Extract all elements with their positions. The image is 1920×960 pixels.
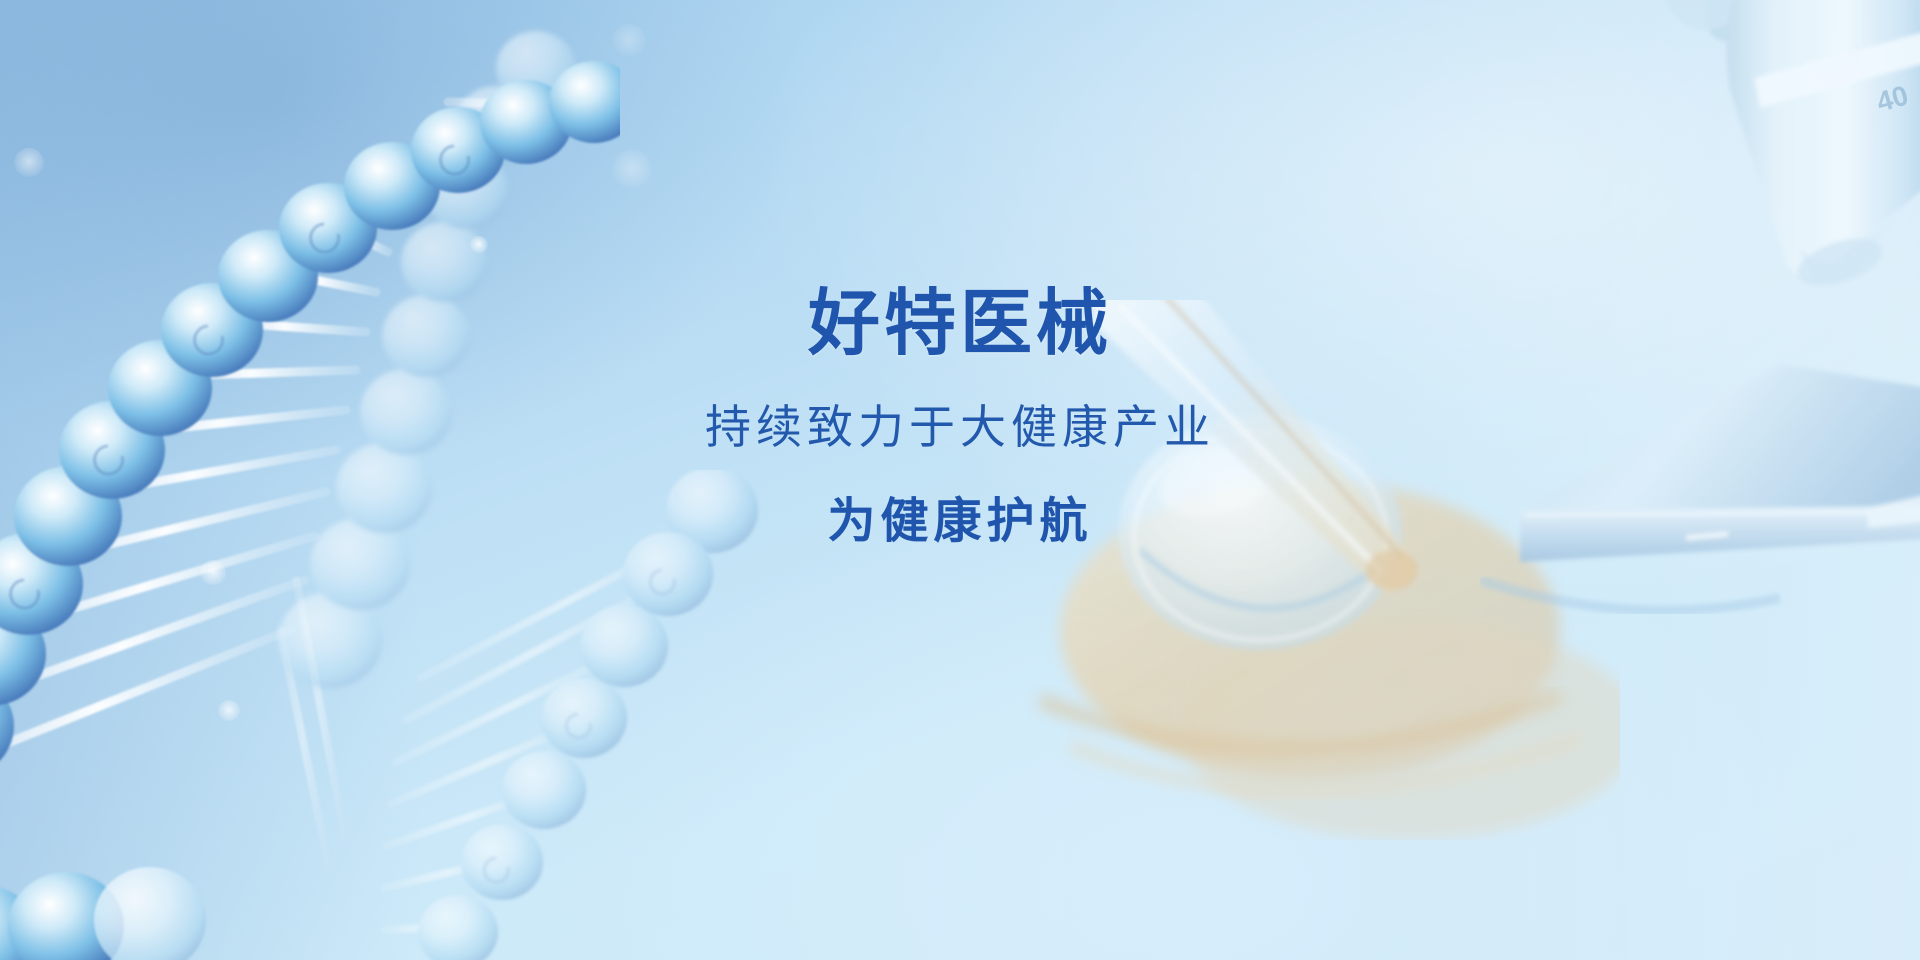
bokeh-dot: [470, 236, 488, 254]
dna-helix-secondary-icon: [200, 470, 840, 960]
bokeh-dot: [14, 148, 44, 178]
right-light-wash: [940, 0, 1920, 960]
bokeh-dot: [612, 150, 652, 190]
bokeh-dot: [200, 560, 226, 586]
bokeh-dot: [218, 700, 240, 722]
bokeh-dot: [612, 24, 646, 58]
hero-banner: 40: [0, 0, 1920, 960]
